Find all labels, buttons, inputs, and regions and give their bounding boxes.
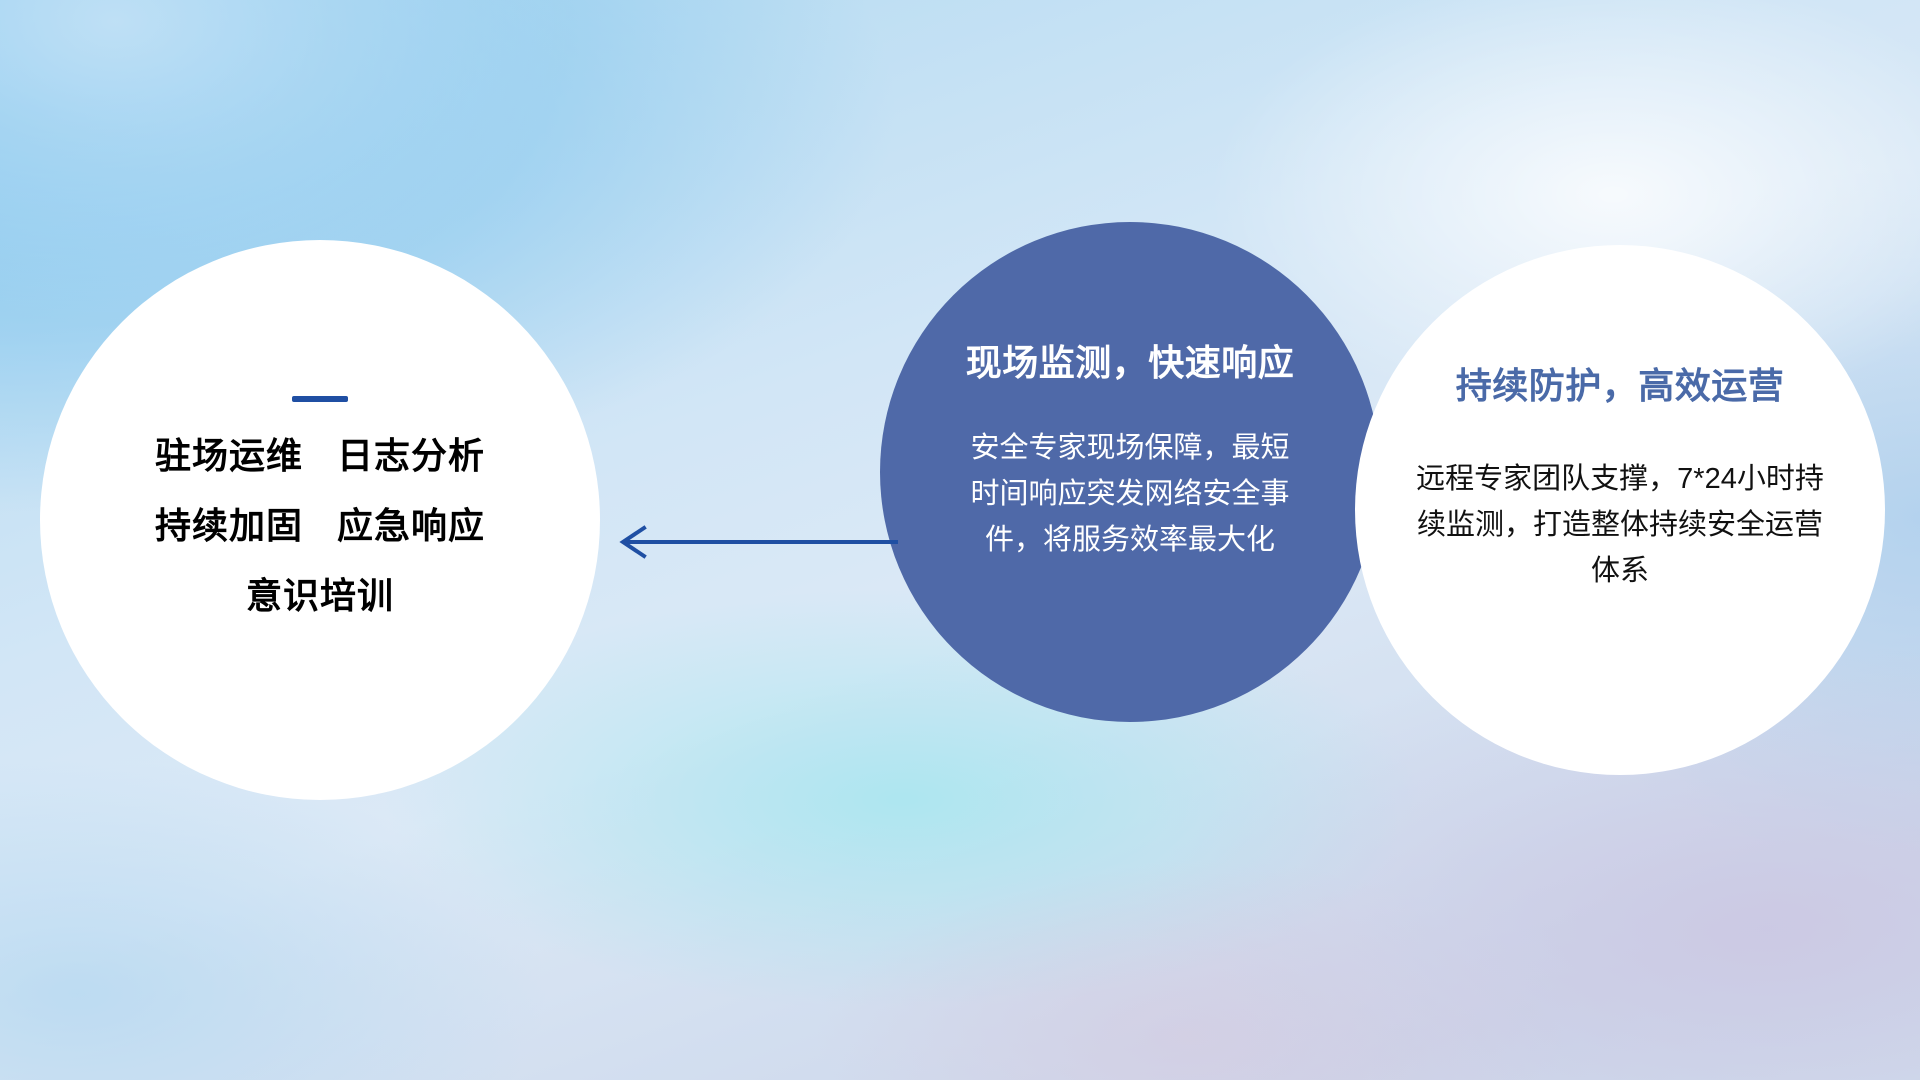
keywords-circle: 驻场运维日志分析 持续加固应急响应 意识培训 [40, 240, 600, 800]
keyword-item: 驻场运维 [155, 438, 303, 474]
divider-dash [292, 396, 348, 402]
continuous-protection-body: 远程专家团队支撑，7*24小时持续监测，打造整体持续安全运营体系 [1410, 457, 1830, 594]
flow-arrow-left-icon [610, 515, 900, 569]
keyword-row: 持续加固应急响应 [40, 508, 600, 544]
onsite-monitoring-body: 安全专家现场保障，最短时间响应突发网络安全事件，将服务效率最大化 [965, 426, 1295, 563]
keyword-row: 意识培训 [40, 578, 600, 614]
keyword-item: 日志分析 [337, 438, 485, 474]
keyword-item: 意识培训 [246, 578, 394, 614]
continuous-protection-title: 持续防护，高效运营 [1456, 357, 1785, 409]
keyword-list: 驻场运维日志分析 持续加固应急响应 意识培训 [40, 438, 600, 648]
keyword-item: 持续加固 [155, 508, 303, 544]
slide-canvas: 驻场运维日志分析 持续加固应急响应 意识培训 现场监测，快速响应 安全专家现场保… [0, 0, 1920, 1080]
keyword-item: 应急响应 [337, 508, 485, 544]
keyword-row: 驻场运维日志分析 [40, 438, 600, 474]
onsite-monitoring-title: 现场监测，快速响应 [966, 334, 1295, 386]
onsite-monitoring-circle: 现场监测，快速响应 安全专家现场保障，最短时间响应突发网络安全事件，将服务效率最… [880, 222, 1380, 722]
continuous-protection-circle: 持续防护，高效运营 远程专家团队支撑，7*24小时持续监测，打造整体持续安全运营… [1355, 245, 1885, 775]
